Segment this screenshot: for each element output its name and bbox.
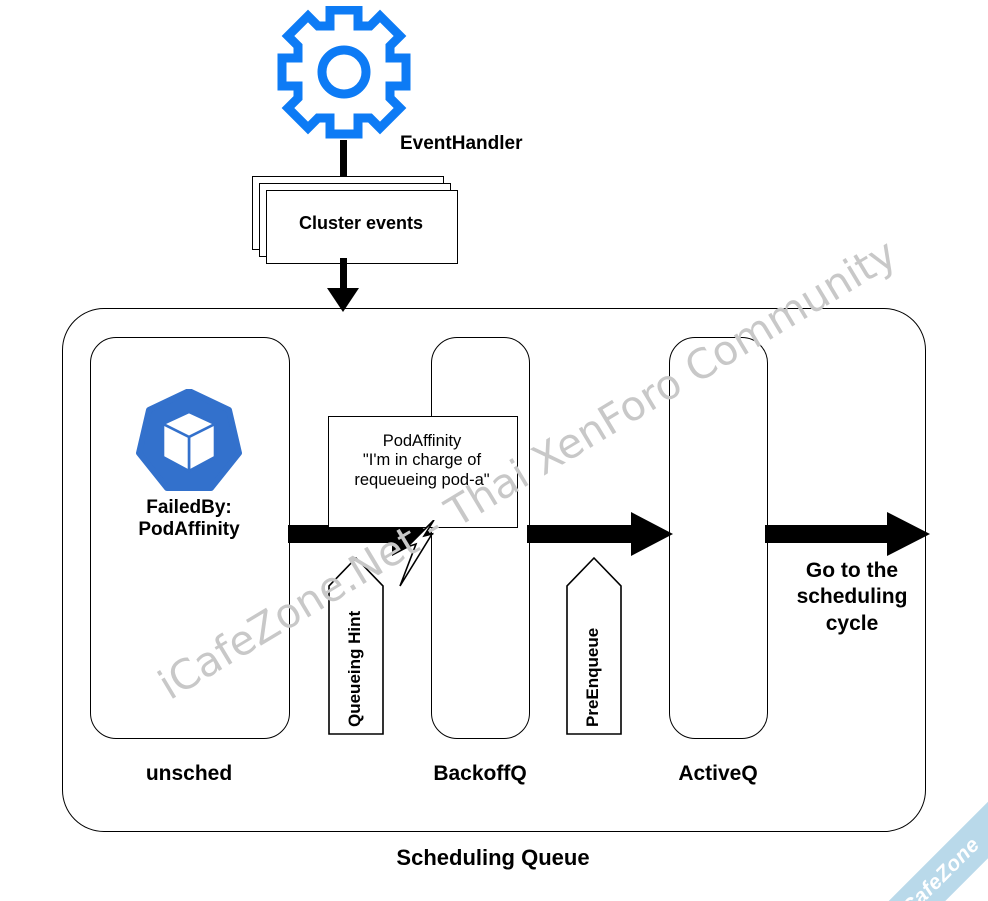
queue-label-unsched: unsched bbox=[90, 762, 288, 787]
cluster-to-queue-connector bbox=[340, 258, 347, 292]
flow-arrow-backoffq-to-activeq bbox=[527, 512, 673, 556]
failed-by-label: FailedBy: PodAffinity bbox=[90, 497, 288, 542]
speech-bubble-text: PodAffinity "I'm in charge of requeueing… bbox=[330, 432, 514, 490]
speech-bubble-tail-icon bbox=[390, 520, 460, 590]
scheduling-queue-label: Scheduling Queue bbox=[62, 845, 924, 871]
queue-box-activeq bbox=[669, 337, 768, 739]
queue-label-activeq: ActiveQ bbox=[640, 762, 796, 787]
queue-label-backoffq: BackoffQ bbox=[400, 762, 560, 787]
cluster-events-label: Cluster events bbox=[266, 213, 456, 234]
diagram-canvas: EventHandler Cluster events FailedBy: Po… bbox=[0, 0, 988, 901]
gear-icon bbox=[268, 6, 420, 154]
preenqueue-label: PreEnqueue bbox=[583, 587, 603, 727]
go-to-scheduling-cycle-label: Go to the scheduling cycle bbox=[762, 558, 942, 637]
flow-arrow-activeq-to-scheduling-cycle bbox=[765, 512, 930, 556]
kubernetes-logo-icon bbox=[136, 389, 242, 495]
queueing-hint-label: Queueing Hint bbox=[345, 587, 365, 727]
event-handler-label: EventHandler bbox=[400, 133, 522, 155]
